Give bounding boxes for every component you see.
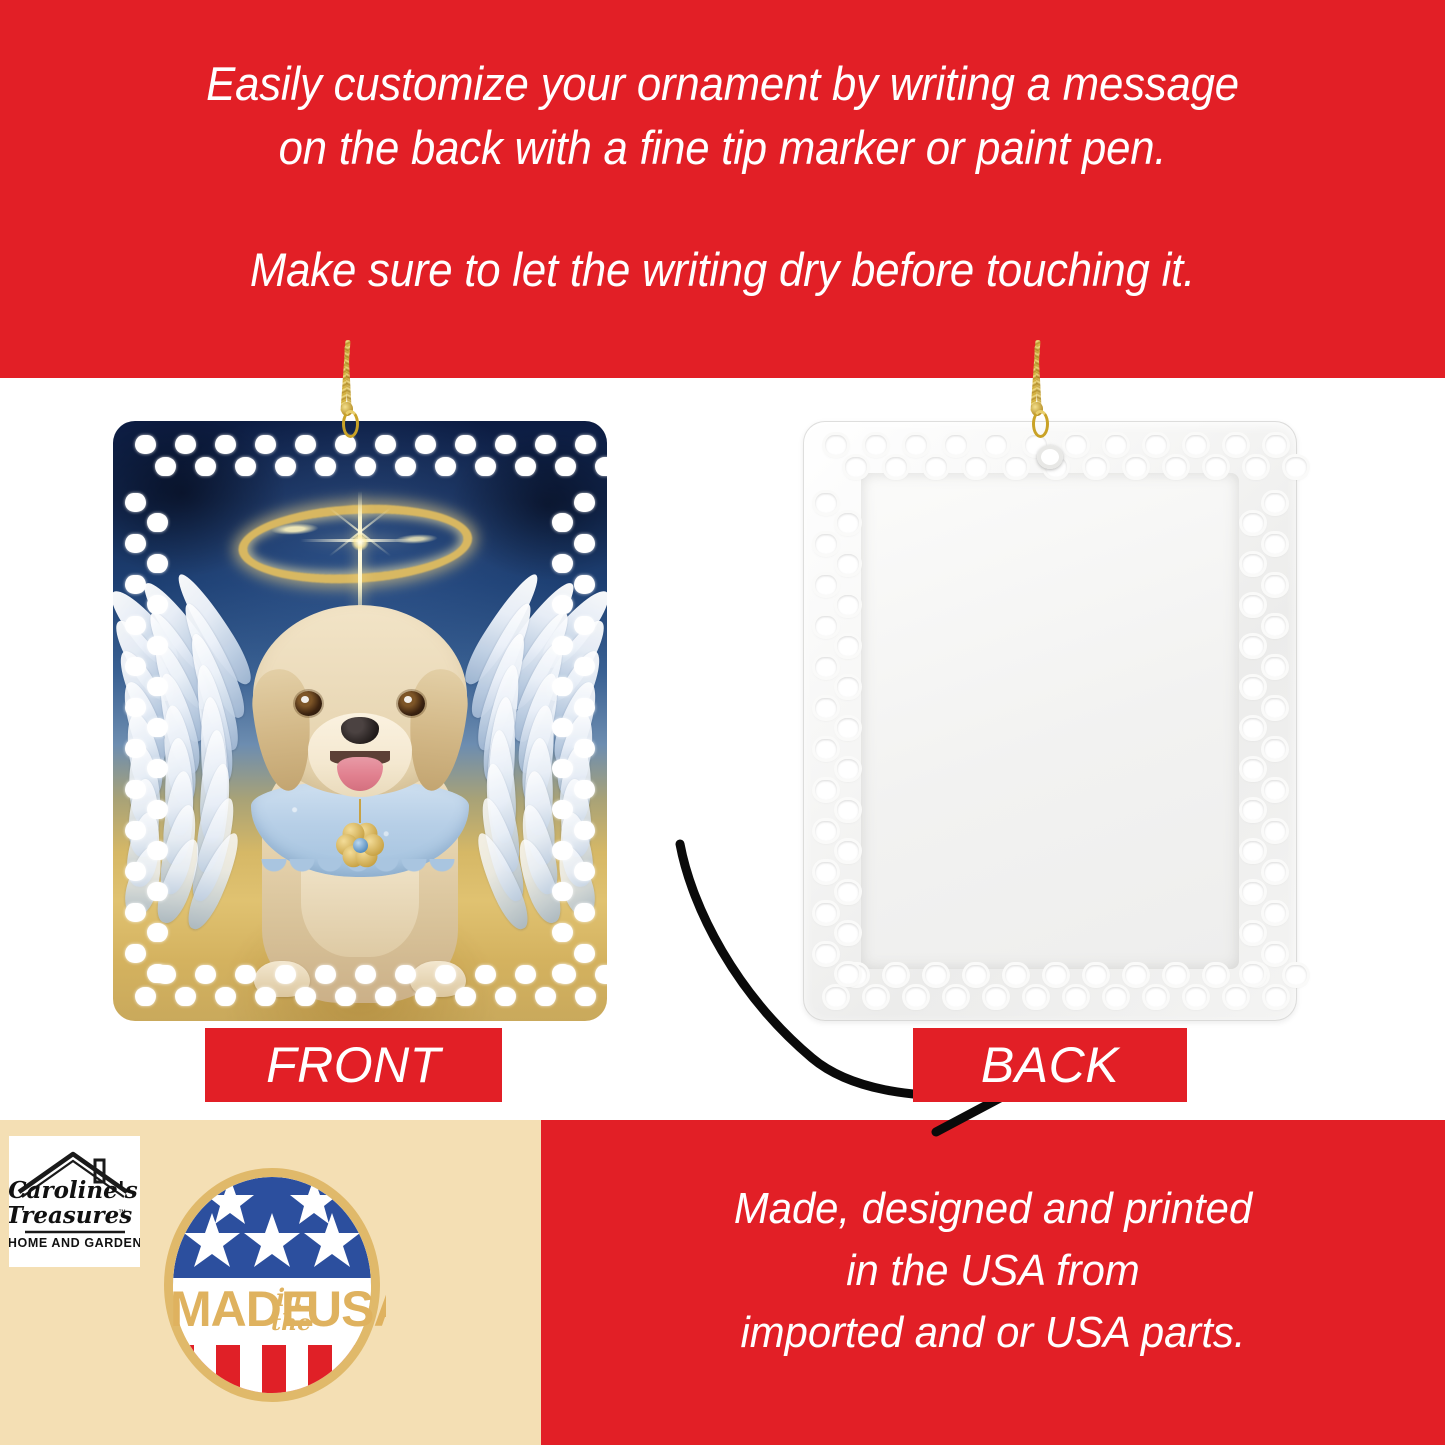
gold-flower-brooch bbox=[334, 819, 386, 871]
top-instruction-banner: Easily customize your ornament by writin… bbox=[0, 0, 1445, 378]
dog-ear-right bbox=[403, 666, 471, 793]
back-label-badge: BACK bbox=[913, 1028, 1187, 1102]
front-ceramic-plate bbox=[113, 421, 607, 1021]
dog-head bbox=[253, 605, 467, 795]
hanger-hole bbox=[1037, 445, 1063, 469]
banner-line-2: on the back with a fine tip marker or pa… bbox=[51, 116, 1395, 180]
logo-script-line1: Caroline's bbox=[9, 1177, 138, 1204]
angel-dog-figure bbox=[226, 591, 494, 1003]
cord-loop bbox=[1032, 410, 1049, 438]
ornament-front[interactable] bbox=[113, 421, 607, 1021]
banner-line-1: Easily customize your ornament by writin… bbox=[51, 52, 1395, 116]
footer-line-1: Made, designed and printed bbox=[564, 1178, 1423, 1240]
brooch-center-gem bbox=[353, 838, 368, 853]
banner-text-group: Easily customize your ornament by writin… bbox=[0, 52, 1445, 302]
front-label-badge: FRONT bbox=[205, 1028, 502, 1102]
cord-loop bbox=[342, 410, 359, 438]
banner-spacer bbox=[0, 180, 1445, 238]
logo-script-line2: Treasures bbox=[9, 1202, 132, 1229]
brand-logo: Caroline's Treasures ™ HOME AND GARDEN bbox=[9, 1136, 140, 1267]
bottom-info-strip: Caroline's Treasures ™ HOME AND GARDEN bbox=[0, 1120, 1445, 1445]
logo-tagline: HOME AND GARDEN bbox=[9, 1236, 140, 1250]
back-hanging-cord bbox=[1031, 340, 1041, 432]
logo-tm-mark: ™ bbox=[118, 1208, 126, 1217]
ornament-back[interactable] bbox=[803, 421, 1297, 1021]
brand-panel: Caroline's Treasures ™ HOME AND GARDEN bbox=[0, 1120, 541, 1445]
made-in-usa-seal-icon: MADE in the USA bbox=[158, 1160, 386, 1410]
badge-word-usa: USA bbox=[306, 1281, 386, 1337]
footer-text-group: Made, designed and printed in the USA fr… bbox=[541, 1178, 1445, 1364]
made-in-usa-statement-panel: Made, designed and printed in the USA fr… bbox=[541, 1120, 1445, 1445]
dog-ear-left bbox=[249, 666, 317, 793]
dog-eye-right bbox=[398, 691, 425, 716]
dog-paw-left bbox=[254, 961, 310, 997]
dog-paw-right bbox=[410, 961, 466, 997]
dog-eye-left bbox=[295, 691, 322, 716]
footer-line-3: imported and or USA parts. bbox=[564, 1302, 1423, 1364]
footer-line-2: in the USA from bbox=[564, 1240, 1423, 1302]
badge-word-in: in bbox=[276, 1283, 303, 1312]
made-in-usa-badge: MADE in the USA bbox=[158, 1160, 386, 1410]
product-showcase-area bbox=[0, 378, 1445, 1120]
back-writable-surface[interactable] bbox=[861, 473, 1239, 969]
carolines-treasures-logo-mark: Caroline's Treasures ™ HOME AND GARDEN bbox=[9, 1136, 140, 1267]
infographic-page: Easily customize your ornament by writin… bbox=[0, 0, 1445, 1445]
front-hanging-cord bbox=[341, 340, 351, 432]
banner-line-3: Make sure to let the writing dry before … bbox=[51, 238, 1395, 302]
star-core-glow bbox=[351, 533, 369, 551]
